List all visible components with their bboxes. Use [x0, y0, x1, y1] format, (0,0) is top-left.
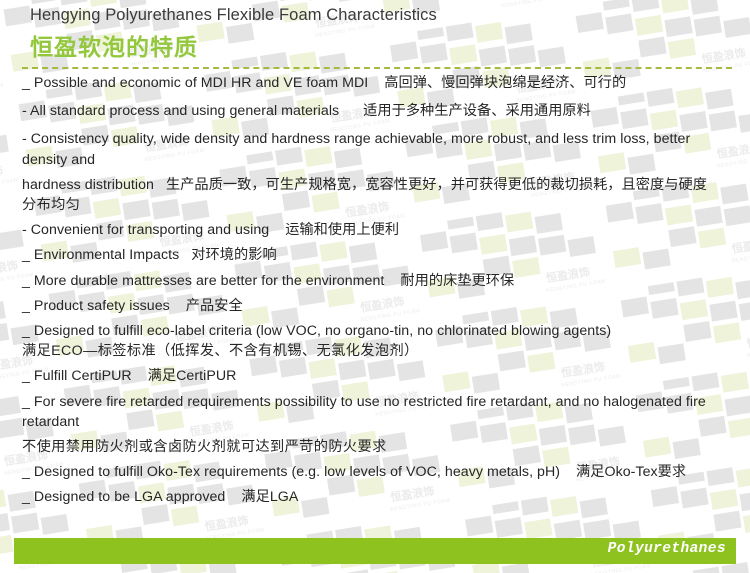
page-title-chinese: 恒盈软泡的特质 — [30, 28, 198, 62]
bullet-line: 满足ECO—标签标准（低挥发、不含有机锡、无氯化发泡剂） — [22, 344, 734, 358]
bullet-line: - Consistency quality, wide density and … — [22, 132, 734, 146]
bullet-line: - All standard process and using general… — [22, 104, 734, 118]
bullet-line: _ For severe fire retarded requirements … — [22, 395, 734, 409]
bullet-line: _ Designed to be LGA approved 满足LGA — [22, 490, 734, 504]
title-divider — [22, 67, 732, 69]
bullet-line: _ Product safety issues 产品安全 — [22, 299, 734, 313]
bullet-line: 不使用禁用防火剂或含卤防火剂就可达到严苛的防火要求 — [22, 440, 734, 454]
bullet-line: _ Designed to fulfill Oko-Tex requiremen… — [22, 465, 734, 479]
bullet-line: _ More durable mattresses are better for… — [22, 274, 734, 288]
bullet-line: - Convenient for transporting and using … — [22, 223, 734, 237]
page-title-english: Hengying Polyurethanes Flexible Foam Cha… — [30, 6, 437, 25]
bullet-line: density and — [22, 153, 734, 167]
footer-label: Polyurethanes — [608, 541, 726, 557]
bullet-line: _ Designed to fulfill eco-label criteria… — [22, 324, 734, 338]
bullet-line: 分布均匀 — [22, 198, 734, 212]
bullet-line: retardant — [22, 415, 734, 429]
bullet-line: _ Possible and economic of MDI HR and VE… — [22, 76, 734, 90]
bullet-list: _ Possible and economic of MDI HR and VE… — [22, 76, 734, 505]
bullet-line: _ Fulfill CertiPUR 满足CertiPUR — [22, 369, 734, 383]
slide-root: Hengying Polyurethanes Flexible Foam Cha… — [0, 0, 750, 573]
bullet-line: hardness distribution 生产品质一致，可生产规格宽，宽容性更… — [22, 178, 734, 192]
bullet-line: _ Environmental Impacts 对环境的影响 — [22, 248, 734, 262]
